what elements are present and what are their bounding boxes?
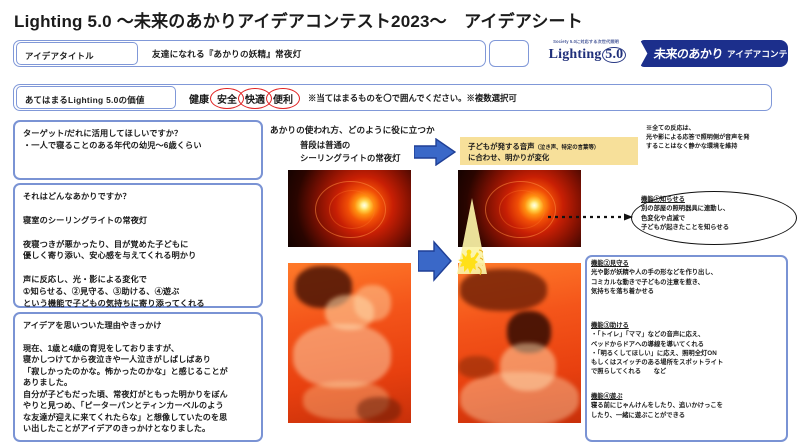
target-box: ターゲット/だれに活用してほしいですか？ ・一人で寝ることのある年代の幼児～6歳…	[13, 120, 263, 180]
usage-subtext: 普段は普通の シーリングライトの常夜灯	[300, 139, 401, 164]
reason-text: アイデアを思いついた理由やきっかけ 現在、1歳と4歳の育児をしておりますが、 寝…	[23, 320, 255, 435]
logo-wordmark: Lighting 5.0	[549, 47, 624, 62]
arrow-top	[414, 138, 456, 166]
photo-child-sleeping	[288, 263, 411, 423]
banner-title: 未来のあかり	[653, 45, 724, 62]
dotted-connector	[548, 208, 634, 216]
function1-title: 機能①知らせる	[641, 196, 685, 203]
values-label-cell: あてはまるLighting 5.0の価値	[16, 86, 176, 109]
value-option-anzen[interactable]: 安全	[214, 91, 240, 106]
fairy-illustration	[455, 248, 483, 278]
dotted-line-icon	[548, 213, 634, 221]
what-kind-text: それはどんなあかりですか？ 寝室のシーリングライトの常夜灯 夜寝つきが悪かったり…	[23, 191, 255, 310]
arrow-middle	[418, 240, 452, 282]
function2-body: 光や影が妖精や人の手の形などを作り出し、 コミカルな動きで子どもの注意を惹き、 …	[591, 269, 717, 295]
values-label: あてはまるLighting 5.0の価値	[25, 94, 145, 106]
contest-banner: 未来のあかり アイデアコンテスト2023	[640, 40, 788, 67]
banner-subtitle: アイデアコンテスト2023	[727, 48, 800, 60]
callout-small: （泣き声、特定の言葉等）	[535, 145, 600, 151]
value-option-kenko[interactable]: 健康	[186, 91, 212, 106]
values-options: 健康 安全 快適 便利 ※当てはまるものを〇で囲んでください。※複数選択可	[186, 88, 517, 108]
usage-heading: あかりの使われ方、どのように役に立つか	[270, 124, 435, 136]
value-option-benri[interactable]: 便利	[270, 91, 296, 106]
fairy-icon	[455, 248, 483, 278]
values-note: ※当てはまるものを〇で囲んでください。※複数選択可	[308, 92, 517, 104]
function1-text: 機能①知らせる別の部屋の照明器具に連動し、 色変化や点滅で 子どもが起きたことを…	[641, 195, 791, 232]
what-kind-box: それはどんなあかりですか？ 寝室のシーリングライトの常夜灯 夜寝つきが悪かったり…	[13, 183, 263, 308]
idea-title-label-cell: アイデアタイトル	[16, 42, 138, 65]
lighting-logo: Society 5.0に対応する次世代照明 Lighting 5.0	[534, 38, 638, 70]
logo-tagline: Society 5.0に対応する次世代照明	[534, 39, 638, 45]
idea-title-value: 友達になれる『あかりの妖精』常夜灯	[152, 48, 302, 60]
down-right-arrow-icon	[418, 240, 452, 282]
callout-main: 子どもが発する音声	[468, 142, 535, 151]
idea-sheet: Lighting 5.0 ～未来のあかりアイデアコンテスト2023～ アイデアシ…	[0, 0, 800, 447]
callout-text: 子どもが発する音声（泣き声、特定の言葉等）に合わせ、明かりが変化	[468, 141, 638, 164]
logo-placeholder-box	[489, 40, 529, 67]
function3-block: 機能③助ける・「トイレ」「ママ」などの音声に応え、 ベッドからドアへの導線を導い…	[591, 321, 787, 377]
function3-body: ・「トイレ」「ママ」などの音声に応え、 ベッドからドアへの導線を導いてくれる ・…	[591, 331, 723, 375]
idea-title-label: アイデアタイトル	[25, 50, 94, 62]
function1-body: 別の部屋の照明器具に連動し、 色変化や点滅で 子どもが起きたことを知らせる	[641, 205, 729, 231]
logo-wordmark-version: 5.0	[605, 47, 623, 62]
function2-block: 機能②見守る光や影が妖精や人の手の形などを作り出し、 コミカルな動きで子どもの注…	[591, 259, 787, 296]
logo-wordmark-prefix: Lighting	[549, 47, 606, 62]
function2-title: 機能②見守る	[591, 260, 629, 267]
target-text: ターゲット/だれに活用してほしいですか？ ・一人で寝ることのある年代の幼児～6歳…	[23, 128, 255, 152]
page-title: Lighting 5.0 ～未来のあかりアイデアコンテスト2023～ アイデアシ…	[14, 7, 583, 32]
reason-box: アイデアを思いついた理由やきっかけ 現在、1歳と4歳の育児をしておりますが、 寝…	[13, 312, 263, 442]
callout-rest: に合わせ、明かりが変化	[468, 153, 549, 162]
function3-title: 機能③助ける	[591, 322, 629, 329]
function4-block: 機能④遊ぶ寝る前にじゃんけんをしたり、追いかけっこを したり、一緒に遊ぶことがで…	[591, 392, 787, 420]
photo-ceiling-light-before	[288, 170, 411, 247]
function4-title: 機能④遊ぶ	[591, 393, 622, 400]
photo-child-awake	[458, 263, 581, 423]
note-all-reactions: ※全ての反応は、 光や影による応答で照明側が音声を発 することはなく静かな環境を…	[646, 124, 796, 151]
value-option-kaiteki[interactable]: 快適	[242, 91, 268, 106]
function4-body: 寝る前にじゃんけんをしたり、追いかけっこを したり、一緒に遊ぶことができる	[591, 402, 723, 418]
right-arrow-icon	[414, 138, 456, 166]
